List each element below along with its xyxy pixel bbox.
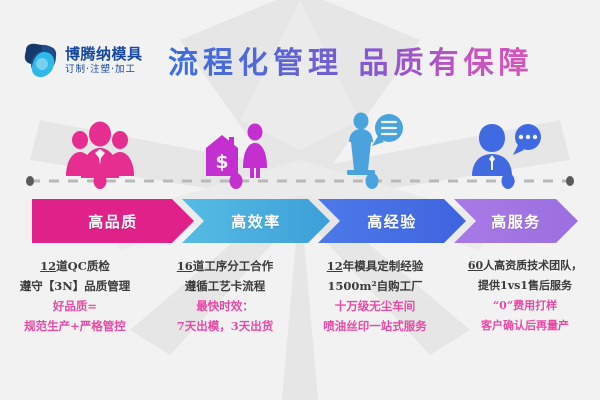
col2-line1-rest: 道工序分工合作: [193, 259, 274, 273]
detail-column-2: 16道工序分工合作 遵循工艺卡流程 最快时效： 7天出模，3天出货: [150, 256, 300, 366]
col2-line4: 7天出模，3天出货: [156, 316, 294, 336]
page-title-text: 流程化管理 品质有保障: [168, 38, 533, 82]
ribbon-segment-1[interactable]: [32, 199, 194, 243]
col2-line3: 最快时效：: [156, 296, 294, 316]
botengna-swoosh-logo-mark: [22, 40, 62, 82]
col3-line4: 喷油丝印一站式服务: [306, 316, 444, 336]
icon-cell-quality: [32, 96, 168, 180]
col3-line1: 12年模具定制经验: [306, 256, 444, 276]
detail-column-4: 60人高资质技术团队， 提供1vs1售后服务 “0”费用打样 客户确认后再量产: [450, 256, 600, 366]
col3-line2: 1500m²自购工厂: [306, 276, 444, 296]
col3-number: 12: [327, 259, 343, 273]
detail-column-1: 12道QC质检 遵守【3N】品质管理 好品质= 规范生产+严格管控: [0, 256, 150, 366]
ribbon-segment-2[interactable]: [182, 199, 330, 243]
col4-number: 60: [468, 259, 483, 272]
col4-line1: 60人高资质技术团队，: [456, 256, 594, 276]
timeline-endpoint-left: [26, 176, 34, 186]
col4-line3: “0”费用打样: [456, 296, 594, 316]
col2-line2: 遵循工艺卡流程: [156, 276, 294, 296]
logo-text-block: 博腾纳模具 订制·注塑·加工: [65, 46, 143, 77]
col1-line3: 好品质=: [6, 296, 144, 316]
timeline-dot-2: [230, 173, 243, 189]
col3-line1-rest: 年模具定制经验: [343, 259, 424, 273]
timeline-dot-3: [366, 173, 379, 189]
col1-line4: 规范生产+严格管控: [6, 316, 144, 336]
logo-tagline: 订制·注塑·加工: [65, 63, 143, 76]
icon-cell-service: [440, 96, 576, 180]
col1-number: 12: [40, 259, 56, 273]
col2-number: 16: [177, 259, 193, 273]
col4-line2: 提供1vs1售后服务: [456, 276, 594, 296]
col4-line1-rest: 人高资质技术团队，: [483, 259, 582, 272]
logo-company-name: 博腾纳模具: [65, 46, 143, 63]
col1-line1: 12道QC质检: [6, 256, 144, 276]
brand-logo: 博腾纳模具 订制·注塑·加工: [22, 38, 172, 84]
timeline-endpoint-right: [566, 176, 574, 186]
process-ribbon: 高品质 高效率 高经验 高服务: [32, 199, 578, 243]
timeline-dot-4: [502, 173, 515, 189]
ribbon-segment-3[interactable]: [318, 199, 466, 243]
icon-cell-experience: [304, 96, 440, 180]
ribbon-segment-4[interactable]: [454, 199, 578, 243]
col1-line2: 遵守【3N】品质管理: [6, 276, 144, 296]
detail-columns: 12道QC质检 遵守【3N】品质管理 好品质= 规范生产+严格管控 16道工序分…: [0, 256, 600, 366]
icon-cell-efficiency: $: [168, 96, 304, 180]
col2-line1: 16道工序分工合作: [156, 256, 294, 276]
col3-line3: 十万级无尘车间: [306, 296, 444, 316]
detail-column-3: 12年模具定制经验 1500m²自购工厂 十万级无尘车间 喷油丝印一站式服务: [300, 256, 450, 366]
page-title: 流程化管理 品质有保障: [168, 38, 533, 82]
col4-line4: 客户确认后再量产: [456, 316, 594, 336]
timeline-dot-1: [94, 173, 107, 189]
timeline-track: [0, 170, 600, 192]
col1-line1-rest: 道QC质检: [56, 259, 110, 273]
infographic-canvas: 博腾纳模具 订制·注塑·加工 流程化管理 品质有保障: [0, 0, 600, 400]
